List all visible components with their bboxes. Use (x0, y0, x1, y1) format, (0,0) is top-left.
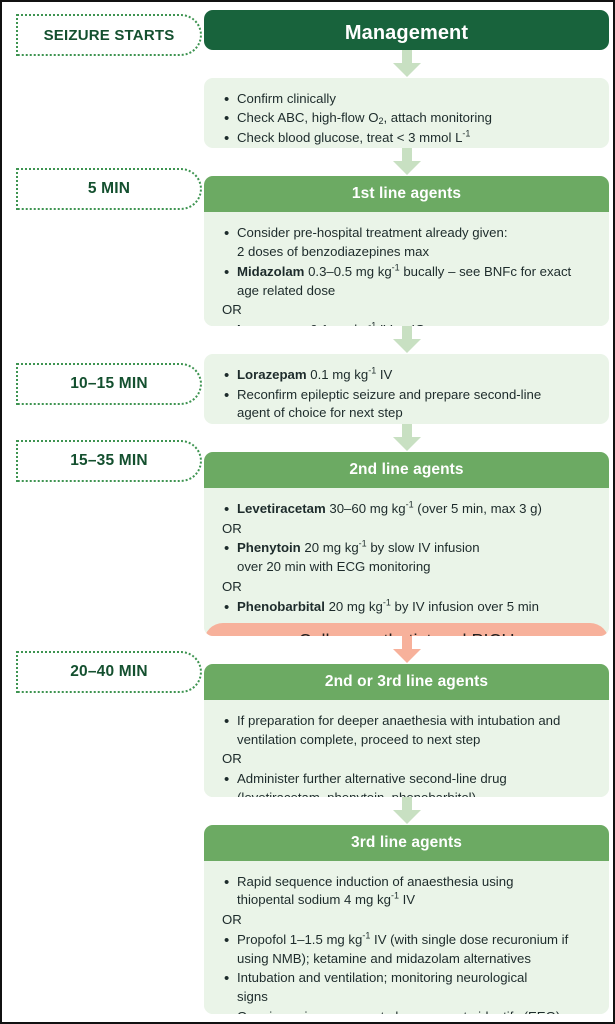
step-body: Levetiracetam 30–60 mg kg-1 (over 5 min,… (204, 488, 609, 623)
step-body-management: Confirm clinicallyCheck ABC, high-flow O… (204, 78, 609, 149)
step-item: Confirm clinically (222, 90, 593, 109)
step-item: Rapid sequence induction of anaesthesia … (222, 873, 593, 910)
step-body: If preparation for deeper anaethesia wit… (204, 700, 609, 797)
step-item: Intubation and ventilation; monitoring n… (222, 969, 593, 1006)
step-item: Lorazepam 0.1 mg kg-1 IV (222, 366, 593, 385)
time-badge-5-min: 5 MIN (16, 168, 202, 210)
or-separator: OR (222, 520, 593, 539)
step-body: Consider pre-hospital treatment already … (204, 212, 609, 325)
step-body: Lorazepam 0.1 mg kg-1 IVReconfirm epilep… (204, 354, 609, 424)
step-item: Phenytoin 20 mg kg-1 by slow IV infusion… (222, 539, 593, 576)
step-item-list: Consider pre-hospital treatment already … (222, 224, 593, 325)
time-badge-label: SEIZURE STARTS (44, 27, 175, 44)
step-box-2nd-or-3rd-line-agents: 2nd or 3rd line agents If preparation fo… (204, 664, 609, 797)
time-badge-20-40-min: 20–40 MIN (16, 651, 202, 693)
step-item: Ongoing seizures are not always easy to … (222, 1008, 593, 1014)
step-item: Administer further alternative second-li… (222, 770, 593, 797)
step-header: 3rd line agents (204, 825, 609, 861)
step-body: Rapid sequence induction of anaesthesia … (204, 861, 609, 1014)
step-box-3rd-line-agents: 3rd line agents Rapid sequence induction… (204, 825, 609, 1014)
step-item: Check ABC, high-flow O2, attach monitori… (222, 109, 593, 128)
step-header: 1st line agents (204, 176, 609, 212)
or-separator: OR (222, 578, 593, 597)
step-item: Check blood glucose, treat < 3 mmol L-1 (222, 129, 593, 148)
timeline-column: SEIZURE STARTS 5 MIN 10–15 MIN 15–35 MIN… (8, 10, 204, 1014)
step-header: 2nd or 3rd line agents (204, 664, 609, 700)
step-header: Management (204, 10, 609, 50)
step-box-lorazepam-reconfirm: Lorazepam 0.1 mg kg-1 IVReconfirm epilep… (204, 354, 609, 424)
or-separator: OR (222, 301, 593, 320)
step-item: Midazolam 0.3–0.5 mg kg-1 bucally – see … (222, 263, 593, 300)
time-badge-seizure-starts: SEIZURE STARTS (16, 14, 202, 56)
or-separator: OR (222, 750, 593, 769)
step-item: Consider pre-hospital treatment already … (222, 224, 593, 261)
step-body: Confirm clinicallyCheck ABC, high-flow O… (204, 78, 609, 149)
flow-arrow-down-salmon-icon (204, 636, 609, 664)
step-header: 2nd line agents (204, 452, 609, 488)
step-item-list: Confirm clinicallyCheck ABC, high-flow O… (222, 90, 593, 148)
step-item: Levetiracetam 30–60 mg kg-1 (over 5 min,… (222, 500, 593, 519)
steps-column: Management Confirm clinicallyCheck ABC, … (204, 10, 609, 1014)
step-item-list: Lorazepam 0.1 mg kg-1 IVReconfirm epilep… (222, 366, 593, 423)
step-item: If preparation for deeper anaethesia wit… (222, 712, 593, 749)
flow-arrow-down-icon (204, 148, 609, 176)
time-badge-label: 20–40 MIN (70, 663, 148, 681)
step-box-2nd-line-agents: 2nd line agents Levetiracetam 30–60 mg k… (204, 452, 609, 636)
step-item-list: Rapid sequence induction of anaesthesia … (222, 873, 593, 1014)
step-box-management: Management (204, 10, 609, 50)
time-badge-label: 5 MIN (88, 180, 130, 198)
seizure-management-flowchart: SEIZURE STARTS 5 MIN 10–15 MIN 15–35 MIN… (0, 0, 615, 1024)
or-separator: OR (222, 911, 593, 930)
time-badge-15-35-min: 15–35 MIN (16, 440, 202, 482)
step-item: Lorazepam 0.1 mg kg-1 IV or IO (222, 321, 593, 326)
step-box-1st-line-agents: 1st line agents Consider pre-hospital tr… (204, 176, 609, 325)
flow-arrow-down-icon (204, 326, 609, 354)
time-badge-label: 10–15 MIN (70, 375, 148, 393)
flow-container: SEIZURE STARTS 5 MIN 10–15 MIN 15–35 MIN… (2, 2, 613, 1022)
step-item: Phenobarbital 20 mg kg-1 by IV infusion … (222, 598, 593, 617)
step-item-list: Levetiracetam 30–60 mg kg-1 (over 5 min,… (222, 500, 593, 616)
step-item: Reconfirm epileptic seizure and prepare … (222, 386, 593, 423)
time-badge-label: 15–35 MIN (70, 452, 148, 470)
time-badge-10-15-min: 10–15 MIN (16, 363, 202, 405)
flow-arrow-down-icon (204, 797, 609, 825)
flow-arrow-down-icon (204, 424, 609, 452)
flow-arrow-down-icon (204, 50, 609, 78)
step-item: Propofol 1–1.5 mg kg-1 IV (with single d… (222, 931, 593, 968)
call-anaesthetist-picu-banner: Call anaesthetist and PICU (204, 623, 609, 636)
step-item-list: If preparation for deeper anaethesia wit… (222, 712, 593, 797)
